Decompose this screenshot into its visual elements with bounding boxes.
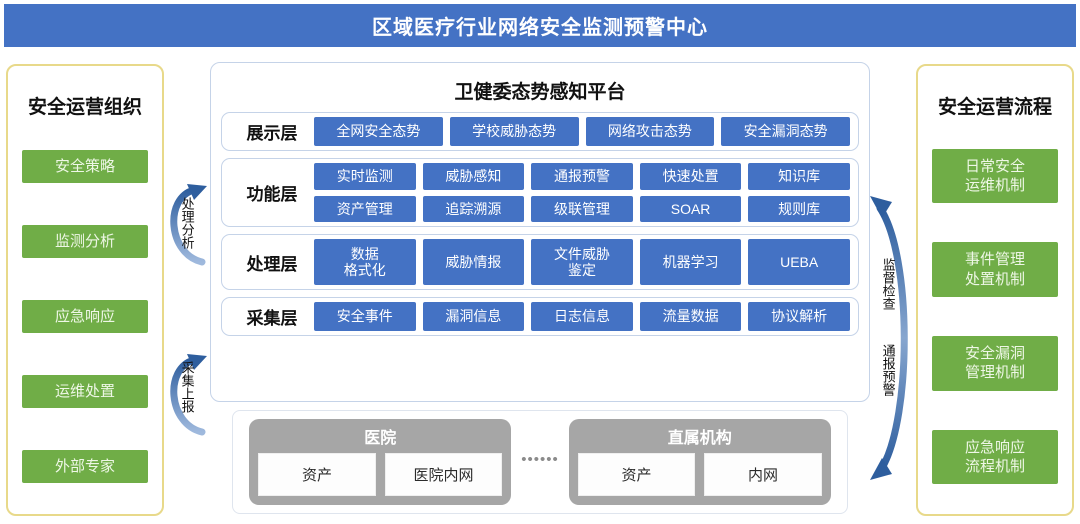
org-box[interactable]: 医院内网 (385, 453, 503, 496)
right-panel-item[interactable]: 事件管理 处置机制 (932, 242, 1058, 296)
layer-body: 安全事件 漏洞信息 日志信息 流量数据 协议解析 (314, 302, 850, 331)
layer-chip[interactable]: 协议解析 (748, 302, 850, 331)
layer-chip[interactable]: 快速处置 (640, 163, 742, 190)
arrow-label-process-analysis: 处理分析 (180, 197, 194, 249)
org-box[interactable]: 内网 (704, 453, 822, 496)
layer-label: 采集层 (230, 304, 314, 329)
layer-chip[interactable]: 知识库 (748, 163, 850, 190)
org-group-title: 直属机构 (578, 424, 822, 448)
platform-title: 卫健委态势感知平台 (221, 77, 859, 104)
curved-double-arrow-icon (866, 186, 918, 490)
org-group-hospital: 医院 资产 医院内网 (249, 419, 511, 505)
layer-chip[interactable]: 通报预警 (531, 163, 633, 190)
chip-row: 实时监测 威胁感知 通报预警 快速处置 知识库 (314, 163, 850, 190)
page-title: 区域医疗行业网络安全监测预警中心 (372, 11, 708, 40)
layer-chip[interactable]: UEBA (748, 239, 850, 285)
layer-chip[interactable]: 威胁感知 (423, 163, 525, 190)
layer-body: 实时监测 威胁感知 通报预警 快速处置 知识库 资产管理 追踪溯源 级联管理 S… (314, 163, 850, 223)
layer-chip[interactable]: SOAR (640, 196, 742, 223)
chip-row: 安全事件 漏洞信息 日志信息 流量数据 协议解析 (314, 302, 850, 331)
layer-collect: 采集层 安全事件 漏洞信息 日志信息 流量数据 协议解析 (221, 297, 859, 336)
org-boxes: 资产 医院内网 (258, 453, 502, 496)
layer-chip[interactable]: 资产管理 (314, 196, 416, 223)
center-column: 卫健委态势感知平台 展示层 全网安全态势 学校威胁态势 网络攻击态势 安全漏洞态… (210, 62, 870, 518)
layer-chip[interactable]: 威胁情报 (423, 239, 525, 285)
platform-card: 卫健委态势感知平台 展示层 全网安全态势 学校威胁态势 网络攻击态势 安全漏洞态… (210, 62, 870, 402)
layer-body: 全网安全态势 学校威胁态势 网络攻击态势 安全漏洞态势 (314, 117, 850, 146)
layer-chip[interactable]: 网络攻击态势 (586, 117, 715, 146)
layer-chip[interactable]: 级联管理 (531, 196, 633, 223)
right-panel-item[interactable]: 日常安全 运维机制 (932, 149, 1058, 203)
layer-chip[interactable]: 文件威胁 鉴定 (531, 239, 633, 285)
left-panel-item[interactable]: 监测分析 (22, 225, 148, 258)
chip-row: 数据 格式化 威胁情报 文件威胁 鉴定 机器学习 UEBA (314, 239, 850, 285)
layer-display: 展示层 全网安全态势 学校威胁态势 网络攻击态势 安全漏洞态势 (221, 112, 859, 151)
layer-label: 功能层 (230, 180, 314, 205)
arrow-supervision-notification (866, 186, 918, 490)
security-operation-process-panel: 安全运营流程 日常安全 运维机制 事件管理 处置机制 安全漏洞 管理机制 应急响… (916, 64, 1074, 516)
layer-chip[interactable]: 安全事件 (314, 302, 416, 331)
right-panel-item[interactable]: 应急响应 流程机制 (932, 430, 1058, 484)
layer-chip[interactable]: 安全漏洞态势 (721, 117, 850, 146)
chip-row: 全网安全态势 学校威胁态势 网络攻击态势 安全漏洞态势 (314, 117, 850, 146)
layer-chip[interactable]: 日志信息 (531, 302, 633, 331)
layer-chip[interactable]: 漏洞信息 (423, 302, 525, 331)
layer-chip[interactable]: 实时监测 (314, 163, 416, 190)
layer-body: 数据 格式化 威胁情报 文件威胁 鉴定 机器学习 UEBA (314, 239, 850, 285)
org-group-affiliated: 直属机构 资产 内网 (569, 419, 831, 505)
layer-chip[interactable]: 全网安全态势 (314, 117, 443, 146)
org-boxes: 资产 内网 (578, 453, 822, 496)
arrow-label-collect-report: 采集上报 (180, 361, 194, 413)
org-group-title: 医院 (258, 424, 502, 448)
security-operation-organization-panel: 安全运营组织 安全策略 监测分析 应急响应 运维处置 外部专家 (6, 64, 164, 516)
layer-function: 功能层 实时监测 威胁感知 通报预警 快速处置 知识库 资产管理 追踪溯源 级联… (221, 158, 859, 228)
layer-label: 处理层 (230, 250, 314, 275)
organizations-card: 医院 资产 医院内网 •••••• 直属机构 资产 内网 (232, 410, 848, 514)
left-panel-item[interactable]: 运维处置 (22, 375, 148, 408)
layer-process: 处理层 数据 格式化 威胁情报 文件威胁 鉴定 机器学习 UEBA (221, 234, 859, 290)
org-separator-dots: •••••• (521, 451, 559, 474)
right-panel-item[interactable]: 安全漏洞 管理机制 (932, 336, 1058, 390)
layer-chip[interactable]: 规则库 (748, 196, 850, 223)
layer-chip[interactable]: 流量数据 (640, 302, 742, 331)
layer-chip[interactable]: 数据 格式化 (314, 239, 416, 285)
left-panel-title: 安全运营组织 (28, 92, 142, 119)
left-panel-item[interactable]: 应急响应 (22, 300, 148, 333)
arrow-label-notification: 通报预警 (881, 344, 895, 396)
layer-chip[interactable]: 学校威胁态势 (450, 117, 579, 146)
org-box[interactable]: 资产 (578, 453, 696, 496)
layer-chip[interactable]: 机器学习 (640, 239, 742, 285)
layer-label: 展示层 (230, 119, 314, 144)
left-panel-item[interactable]: 外部专家 (22, 450, 148, 483)
left-panel-item[interactable]: 安全策略 (22, 150, 148, 183)
right-panel-items: 日常安全 运维机制 事件管理 处置机制 安全漏洞 管理机制 应急响应 流程机制 (918, 127, 1072, 514)
diagram-root: 区域医疗行业网络安全监测预警中心 安全运营组织 安全策略 监测分析 应急响应 运… (0, 0, 1080, 524)
left-panel-items: 安全策略 监测分析 应急响应 运维处置 外部专家 (8, 127, 162, 514)
right-panel-title: 安全运营流程 (938, 92, 1052, 119)
header-bar: 区域医疗行业网络安全监测预警中心 (4, 4, 1076, 47)
layer-chip[interactable]: 追踪溯源 (423, 196, 525, 223)
arrow-label-supervision: 监督检查 (881, 258, 895, 310)
org-box[interactable]: 资产 (258, 453, 376, 496)
chip-row: 资产管理 追踪溯源 级联管理 SOAR 规则库 (314, 196, 850, 223)
